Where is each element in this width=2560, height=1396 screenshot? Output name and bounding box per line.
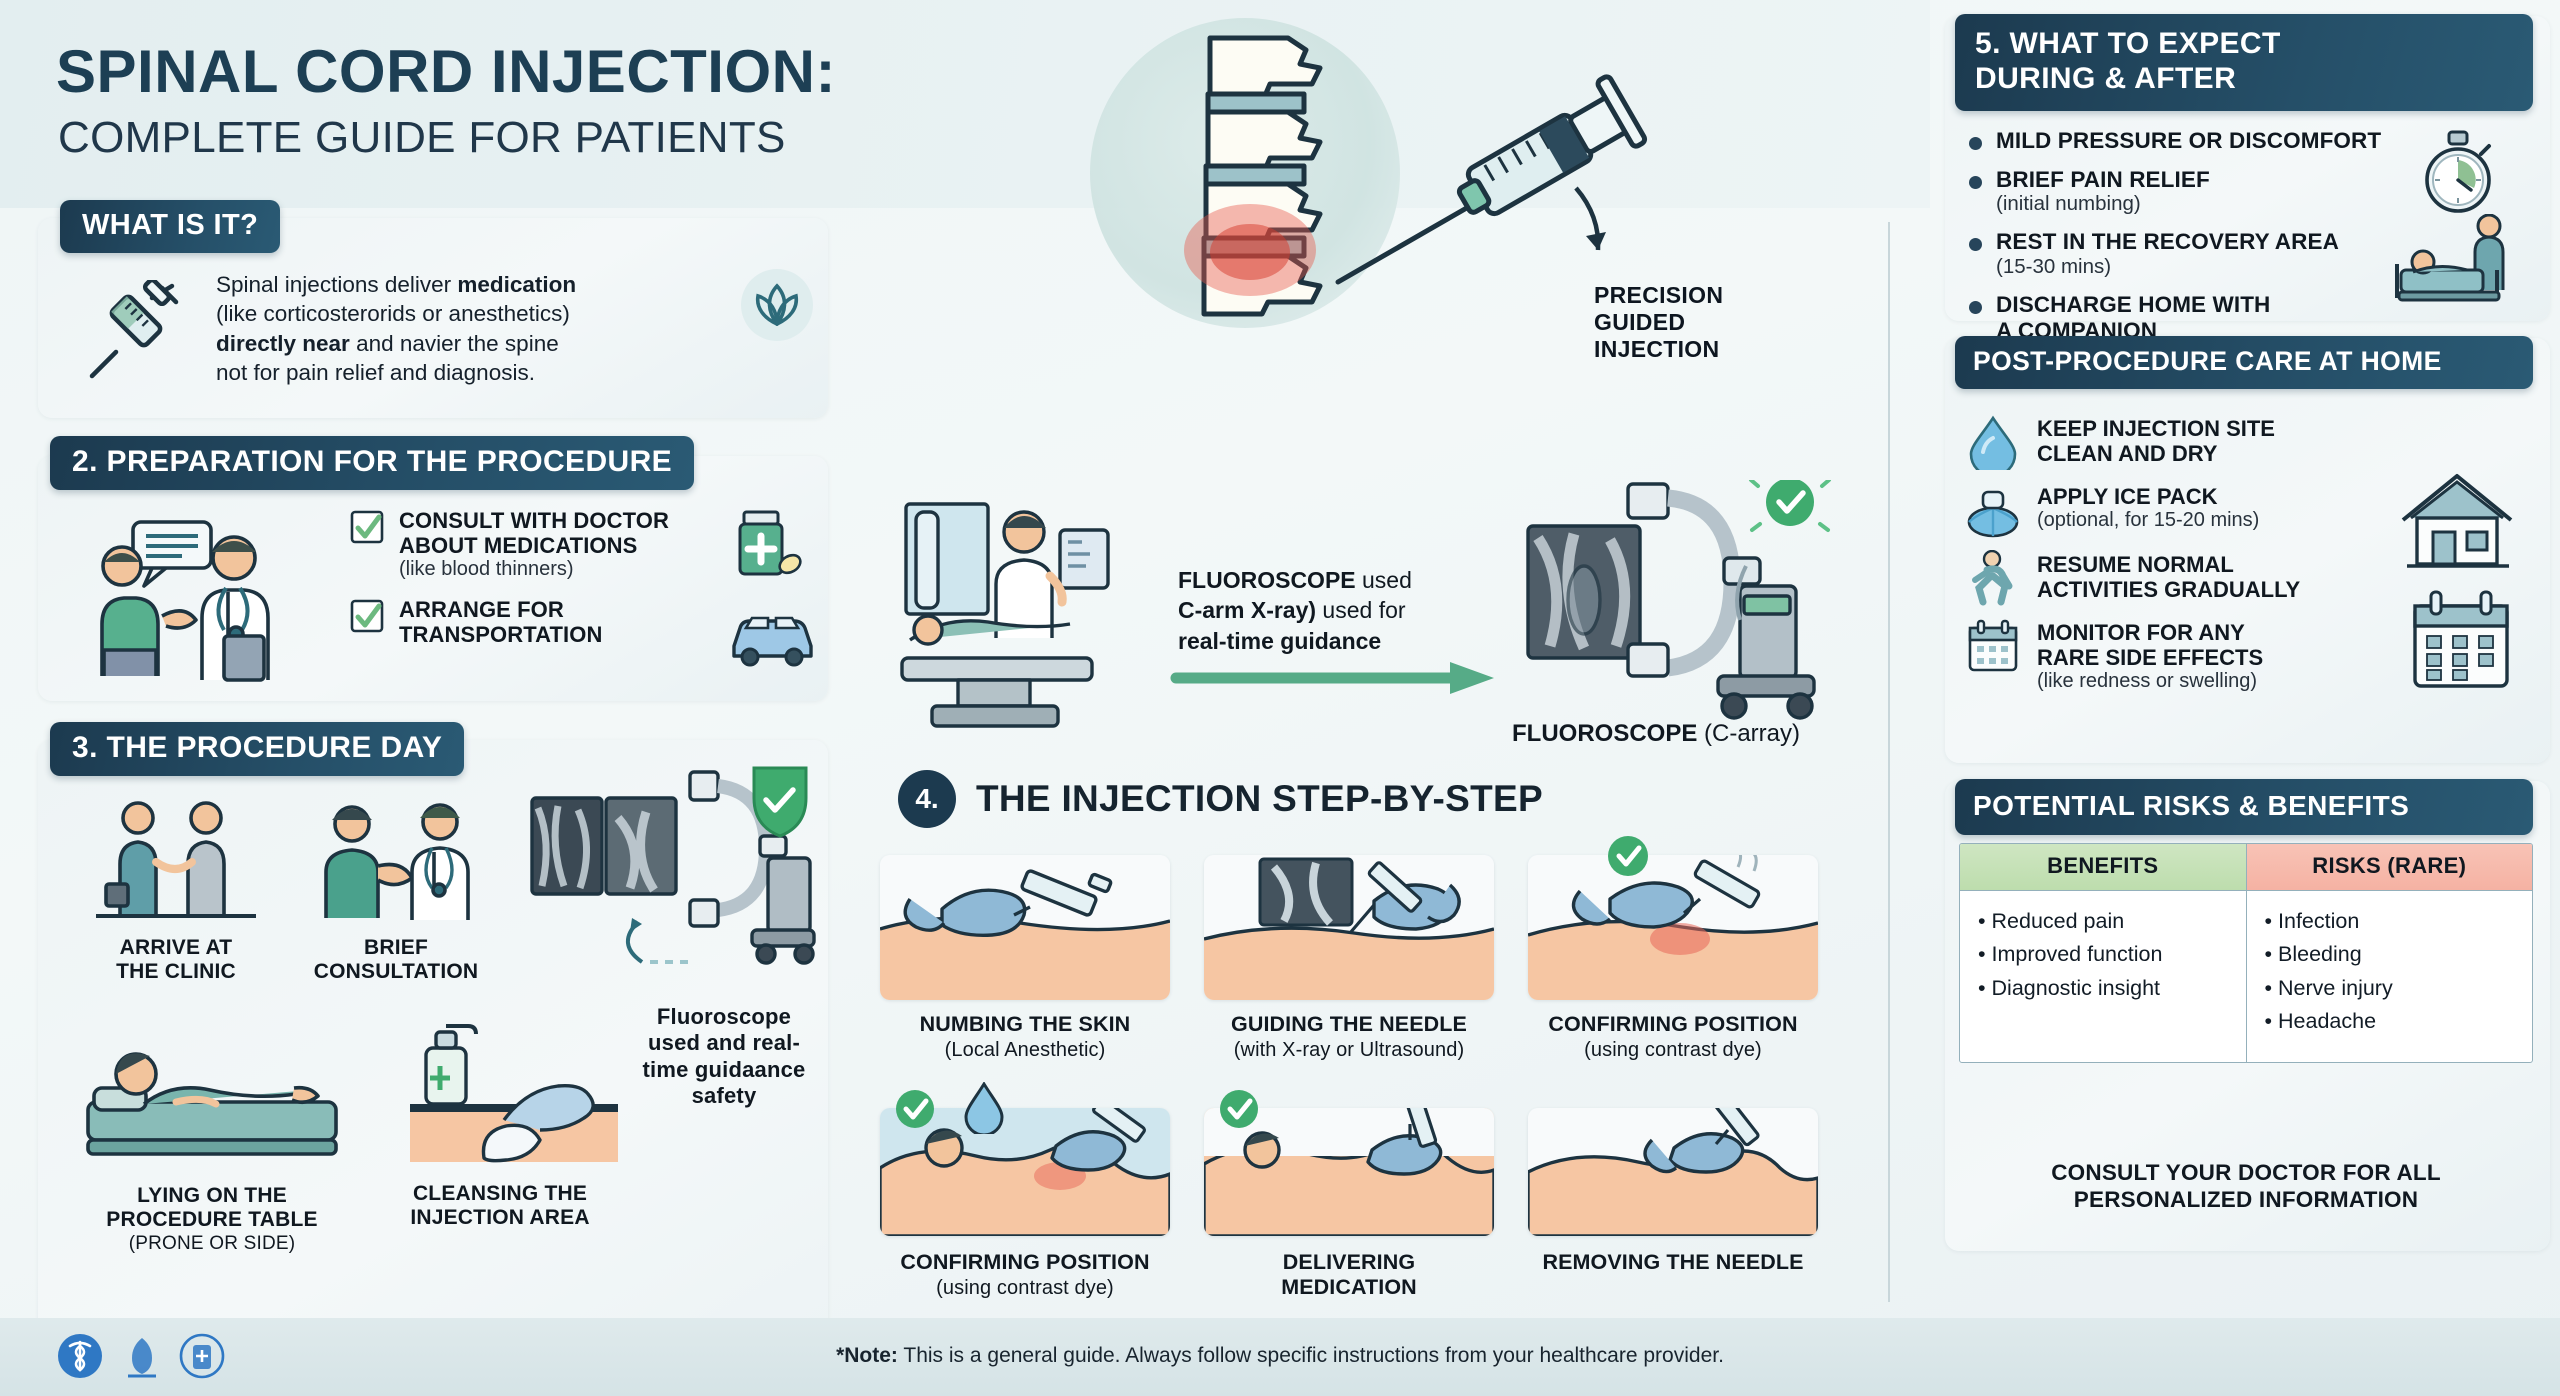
table-header-row: BENEFITS RISKS (RARE): [1960, 844, 2532, 890]
guiding-the-needle-thumbnail: [1204, 855, 1494, 1000]
fluoroscope-caption: FLUOROSCOPE (C-array): [1512, 720, 1800, 748]
consult-doctor-note: CONSULT YOUR DOCTOR FOR ALLPERSONALIZED …: [1959, 1159, 2533, 1213]
numbing-the-skin-thumbnail: [880, 855, 1170, 1000]
doctor-patient-consult-illustration: [78, 508, 328, 686]
page-title: SPINAL CORD INJECTION:: [56, 42, 836, 102]
preparation-card: 2. PREPARATION FOR THE PROCEDURE: [38, 456, 828, 701]
confirming-position-thumbnail: [1528, 855, 1818, 1000]
flow-arrow-icon: [1170, 660, 1500, 696]
check-badge-icon: [1751, 480, 1829, 530]
list-item: Infection: [2265, 905, 2523, 938]
list-item: KEEP INJECTION SITECLEAN AND DRY: [1965, 414, 2365, 470]
fluoroscope-machine-illustration: [1518, 480, 1838, 730]
syringe-icon: [82, 280, 192, 385]
bullet-dot-icon: [1969, 301, 1982, 314]
cleansing-injection-area-illustration: [374, 1018, 624, 1170]
procedure-day-heading: 3. THE PROCEDURE DAY: [50, 722, 464, 776]
benefits-cell: Reduced pain Improved function Diagnosti…: [1960, 891, 2247, 1062]
footer-note: *Note: This is a general guide. Always f…: [836, 1344, 1724, 1368]
step-caption: REMOVING THE NEEDLE: [1518, 1250, 1828, 1275]
page-subtitle: COMPLETE GUIDE FOR PATIENTS: [58, 116, 786, 160]
fluoroscope-note: Fluoroscope used and real-time guidaance…: [634, 1004, 814, 1110]
house-icon: [2397, 470, 2517, 574]
calendar-icon: [2409, 590, 2513, 692]
fluoroscope-c-arm-illustration: [522, 762, 818, 992]
leaf-icon: [738, 266, 816, 344]
spine-injection-illustration: [1100, 10, 1660, 340]
risks-benefits-heading: POTENTIAL RISKS & BENEFITS: [1955, 779, 2533, 835]
calendar-icon: [1965, 618, 2021, 674]
procedure-step-caption: LYING ON THEPROCEDURE TABLE (PRONE OR SI…: [70, 1184, 354, 1255]
left-column: WHAT IS IT? Spinal injections: [0, 208, 840, 1318]
procedure-day-card: 3. THE PROCEDURE DAY ARRIVE ATTHE CLINIC: [38, 740, 828, 1396]
list-item: Bleeding: [2265, 938, 2523, 971]
list-item: Nerve injury: [2265, 972, 2523, 1005]
check-badge-icon: [1606, 834, 1650, 878]
precision-guided-injection-label: PRECISION GUIDED INJECTION: [1594, 282, 1824, 363]
list-item: Improved function: [1978, 938, 2236, 971]
right-column: 5. WHAT TO EXPECTDURING & AFTER MILD PRE…: [1945, 16, 2550, 1316]
lying-on-table-illustration: [80, 1030, 344, 1170]
arrive-at-clinic-illustration: [86, 798, 266, 928]
what-is-it-description: Spinal injections deliver medication (li…: [216, 270, 756, 387]
caduceus-icon: [56, 1332, 104, 1380]
procedure-room-illustration: [892, 498, 1202, 738]
brief-consultation-illustration: [296, 798, 496, 928]
running-person-icon: [1965, 550, 2021, 606]
what-is-it-heading: WHAT IS IT?: [60, 200, 280, 253]
pill-bottle-icon: [728, 508, 803, 580]
checkbox-checked-icon: [350, 599, 384, 633]
list-item: BRIEF PAIN RELIEF (initial numbing): [1969, 167, 2475, 217]
column-divider: [1888, 222, 1890, 1302]
risks-cell: Infection Bleeding Nerve injury Headache: [2247, 891, 2533, 1062]
procedure-step-caption: BRIEFCONSULTATION: [288, 936, 504, 983]
benefits-column-header: BENEFITS: [1960, 844, 2247, 890]
list-item: Reduced pain: [1978, 905, 2236, 938]
list-item: RESUME NORMALACTIVITIES GRADUALLY: [1965, 550, 2365, 606]
list-item: CONSULT WITH DOCTORABOUT MEDICATIONS (li…: [350, 508, 710, 581]
ice-pack-icon: [1965, 482, 2021, 538]
patient-in-bed-icon: [2387, 214, 2527, 312]
list-item: Diagnostic insight: [1978, 972, 2236, 1005]
post-procedure-care-card: POST-PROCEDURE CARE AT HOME KEEP INJECTI…: [1945, 338, 2550, 763]
what-to-expect-heading: 5. WHAT TO EXPECTDURING & AFTER: [1955, 14, 2533, 111]
medical-badge-icon: [178, 1332, 226, 1380]
bullet-dot-icon: [1969, 137, 1982, 150]
table-body: Reduced pain Improved function Diagnosti…: [1960, 890, 2532, 1062]
list-item: MILD PRESSURE OR DISCOMFORT: [1969, 128, 2475, 154]
checkbox-checked-icon: [350, 510, 384, 544]
water-drop-icon: [962, 1082, 1006, 1134]
step-section-number: 4.: [898, 770, 956, 828]
check-badge-icon: [894, 1088, 936, 1130]
fluoroscope-description: FLUOROSCOPE used C-arm X-ray) used for r…: [1178, 565, 1478, 656]
list-item: MONITOR FOR ANYRARE SIDE EFFECTS (like r…: [1965, 618, 2365, 693]
stopwatch-icon: [2419, 130, 2497, 216]
risks-column-header: RISKS (RARE): [2247, 844, 2533, 890]
what-to-expect-card: 5. WHAT TO EXPECTDURING & AFTER MILD PRE…: [1945, 16, 2550, 321]
removing-the-needle-thumbnail: [1528, 1108, 1818, 1236]
list-item: APPLY ICE PACK (optional, for 15-20 mins…: [1965, 482, 2365, 538]
step-caption: GUIDING THE NEEDLE(with X-ray or Ultraso…: [1194, 1012, 1504, 1062]
bullet-dot-icon: [1969, 176, 1982, 189]
medical-emblem-icon: [118, 1332, 166, 1380]
procedure-step-caption: CLEANSING THEINJECTION AREA: [364, 1182, 636, 1229]
footer-bar: *Note: This is a general guide. Always f…: [0, 1318, 2560, 1396]
list-item: ARRANGE FORTRANSPORTATION: [350, 597, 710, 647]
preparation-heading: 2. PREPARATION FOR THE PROCEDURE: [50, 436, 694, 490]
step-caption: DELIVERINGMEDICATION: [1194, 1250, 1504, 1299]
step-caption: CONFIRMING POSITION(using contrast dye): [870, 1250, 1180, 1300]
step-section-heading: THE INJECTION STEP-BY-STEP: [976, 778, 1543, 820]
risks-benefits-card: POTENTIAL RISKS & BENEFITS BENEFITS RISK…: [1945, 781, 2550, 1251]
procedure-step-caption: ARRIVE ATTHE CLINIC: [86, 936, 266, 983]
post-care-heading: POST-PROCEDURE CARE AT HOME: [1955, 336, 2533, 389]
infographic-page: SPINAL CORD INJECTION: COMPLETE GUIDE FO…: [0, 0, 2560, 1396]
list-item: Headache: [2265, 1005, 2523, 1038]
step-caption: CONFIRMING POSITION(using contrast dye): [1518, 1012, 1828, 1062]
check-badge-icon: [1218, 1088, 1260, 1130]
water-drop-icon: [1965, 414, 2021, 470]
bullet-dot-icon: [1969, 238, 1982, 251]
what-is-it-card: WHAT IS IT? Spinal injections: [38, 218, 828, 418]
preparation-checklist: CONSULT WITH DOCTORABOUT MEDICATIONS (li…: [350, 508, 710, 663]
car-icon: [728, 604, 816, 668]
risks-benefits-table: BENEFITS RISKS (RARE) Reduced pain Impro…: [1959, 843, 2533, 1063]
step-caption: NUMBING THE SKIN(Local Anesthetic): [870, 1012, 1180, 1062]
